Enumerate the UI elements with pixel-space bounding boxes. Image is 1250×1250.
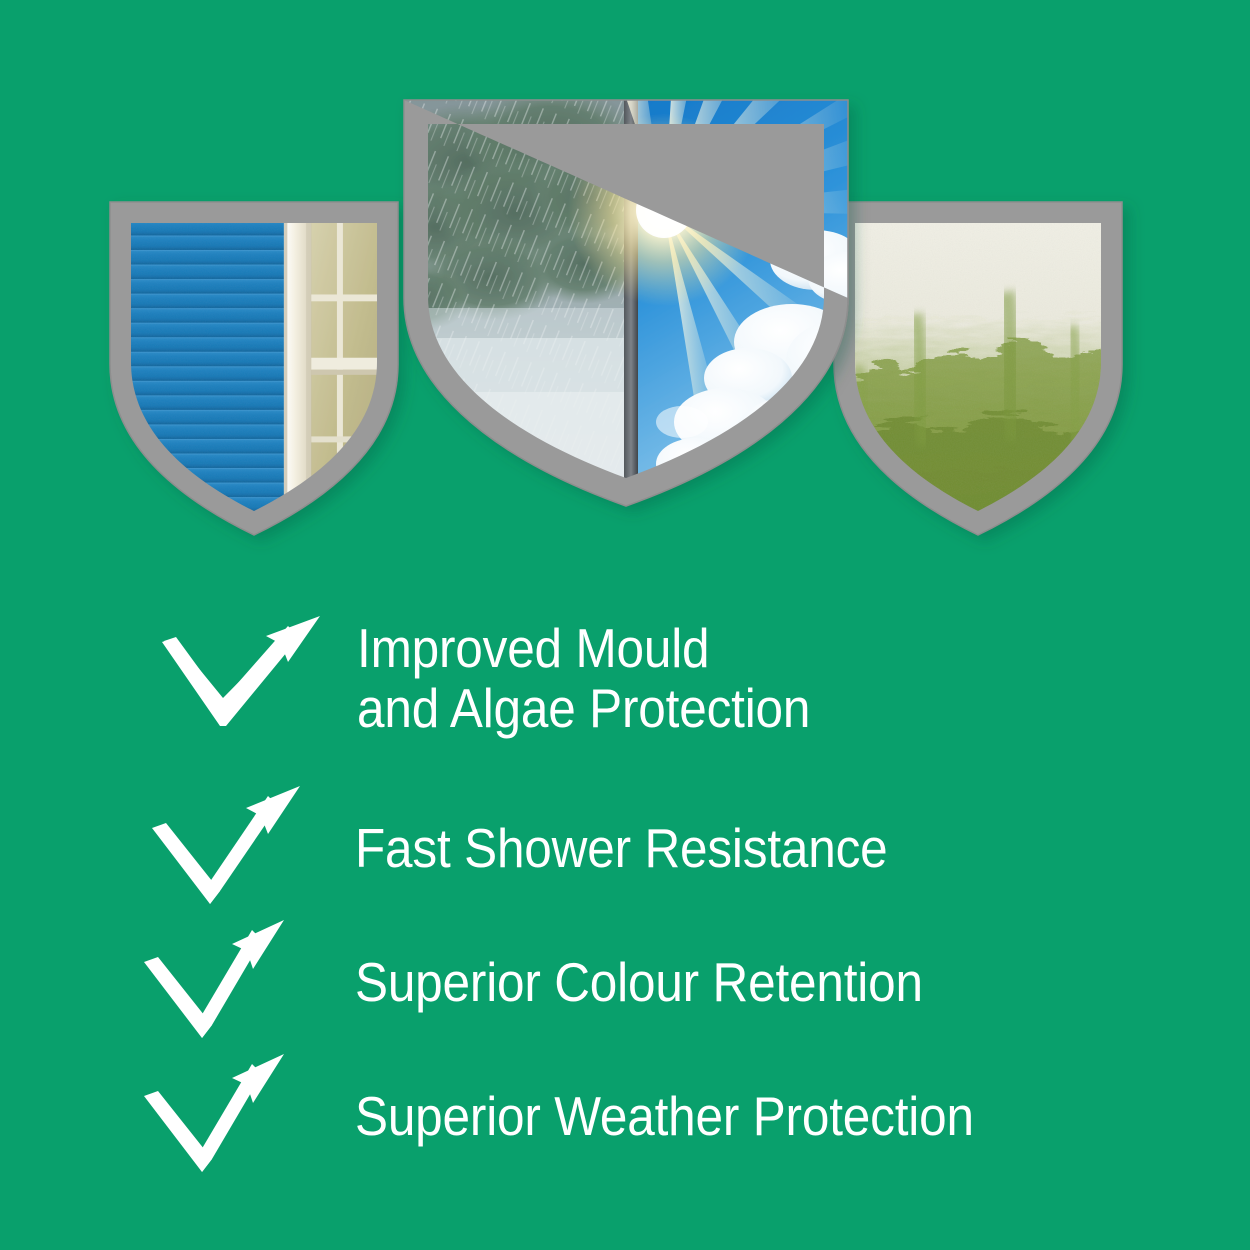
benefit-item: Fast Shower Resistance — [150, 784, 947, 912]
check-arrow-icon — [142, 918, 307, 1046]
check-arrow-icon — [150, 784, 315, 912]
shield-centre-graphic — [396, 92, 856, 512]
check-arrow-icon — [160, 614, 325, 742]
shield-cluster — [0, 0, 1250, 540]
shield-colour-retention — [104, 196, 419, 551]
benefit-item: Improved Mould and Algae Protection — [160, 614, 861, 742]
benefit-item: Superior Colour Retention — [142, 918, 986, 1046]
infographic-canvas: Improved Mould and Algae Protection Fast… — [0, 0, 1250, 1250]
shield-right-graphic — [828, 196, 1143, 551]
benefit-item: Superior Weather Protection — [142, 1052, 1043, 1180]
benefit-label: Superior Colour Retention — [355, 952, 923, 1013]
shield-weather-protection — [396, 92, 856, 512]
shield-mould-algae — [828, 196, 1143, 551]
shield-left-graphic — [104, 196, 419, 551]
benefit-label: Superior Weather Protection — [355, 1086, 974, 1147]
shield-right-artwork — [808, 196, 1148, 566]
benefit-label: Fast Shower Resistance — [355, 818, 888, 879]
check-arrow-icon — [142, 1052, 307, 1180]
benefit-label: Improved Mould and Algae Protection — [357, 618, 810, 739]
